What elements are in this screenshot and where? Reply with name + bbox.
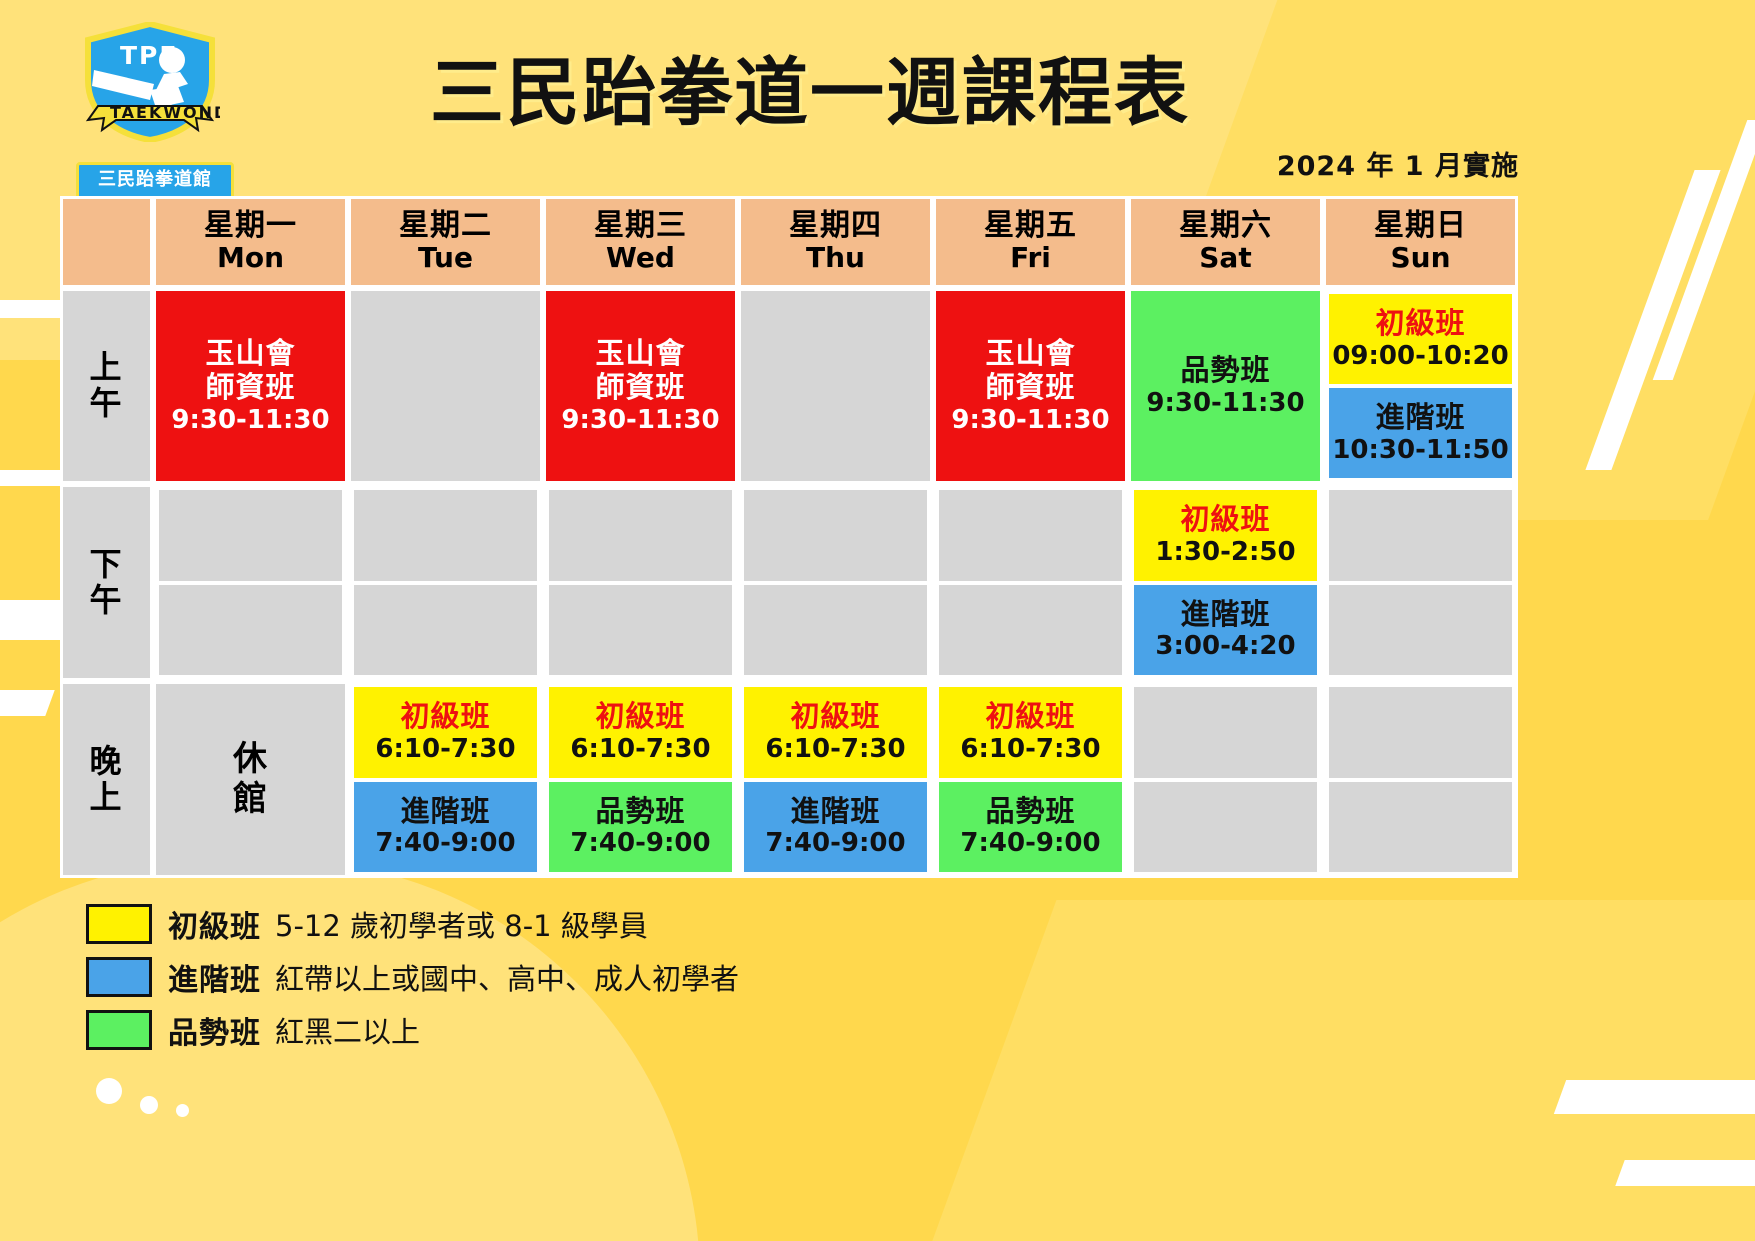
half-cell xyxy=(936,583,1125,679)
class-name: 進階班 xyxy=(790,796,880,826)
schedule-cell: 初級班6:10-7:30品勢班7:40-9:00 xyxy=(543,681,738,878)
legend-class-name: 進階班 xyxy=(168,955,261,999)
schedule-cell: 初級班6:10-7:30進階班7:40-9:00 xyxy=(738,681,933,878)
half-cell: 初級班1:30-2:50 xyxy=(1131,487,1320,583)
class-time: 9:30-11:30 xyxy=(1146,390,1304,417)
class-time: 1:30-2:50 xyxy=(1155,539,1295,566)
class-block[interactable]: 進階班10:30-11:50 xyxy=(1329,388,1512,478)
legend-row: 初級班5-12 歲初學者或 8-1 級學員 xyxy=(86,902,1186,946)
class-block[interactable]: 玉山會師資班9:30-11:30 xyxy=(546,291,735,481)
half-cell xyxy=(546,583,735,679)
split-cell: 初級班6:10-7:30進階班7:40-9:00 xyxy=(741,684,930,875)
class-block xyxy=(1329,687,1512,778)
schedule-cell: 品勢班9:30-11:30 xyxy=(1128,288,1323,484)
half-cell xyxy=(156,487,345,583)
day-name-en: Sun xyxy=(1390,243,1450,274)
class-time: 7:40-9:00 xyxy=(765,830,905,857)
period-label-0: 上午 xyxy=(60,288,153,484)
day-name-en: Tue xyxy=(418,243,473,274)
schedule-cell xyxy=(153,484,348,681)
class-name: 初級班 xyxy=(400,701,490,731)
class-name: 進階班 xyxy=(1375,402,1465,432)
class-time: 7:40-9:00 xyxy=(570,830,710,857)
schedule-cell xyxy=(348,288,543,484)
day-name-zh: 星期五 xyxy=(984,210,1077,242)
class-block[interactable]: 品勢班7:40-9:00 xyxy=(939,782,1122,873)
class-name: 初級班 xyxy=(1180,504,1270,534)
legend-color-swatch-yellow xyxy=(86,904,152,944)
day-name-en: Sat xyxy=(1199,243,1251,274)
day-name-zh: 星期二 xyxy=(399,210,492,242)
half-cell xyxy=(741,487,930,583)
class-block xyxy=(549,490,732,581)
class-block[interactable]: 初級班1:30-2:50 xyxy=(1134,490,1317,581)
logo: TPE TAEKWONDO 三民跆拳道館 xyxy=(58,22,248,187)
day-name-zh: 星期六 xyxy=(1179,210,1272,242)
class-block[interactable]: 初級班6:10-7:30 xyxy=(549,687,732,778)
effective-date: 2024 年 1 月實施 xyxy=(1277,144,1519,183)
period-label-2: 晚上 xyxy=(60,681,153,878)
class-time: 7:40-9:00 xyxy=(960,830,1100,857)
class-block: 休館 xyxy=(156,684,345,875)
day-name-zh: 星期日 xyxy=(1374,210,1467,242)
day-name-en: Mon xyxy=(217,243,284,274)
split-cell xyxy=(1131,684,1320,875)
closed-label: 館 xyxy=(233,782,268,818)
class-name-line: 玉山會 xyxy=(205,338,295,368)
class-block xyxy=(159,585,342,676)
class-name-line: 玉山會 xyxy=(595,338,685,368)
split-cell: 初級班6:10-7:30進階班7:40-9:00 xyxy=(351,684,540,875)
class-name: 進階班 xyxy=(1180,599,1270,629)
half-cell: 進階班3:00-4:20 xyxy=(1131,583,1320,679)
schedule-cell: 初級班6:10-7:30進階班7:40-9:00 xyxy=(348,681,543,878)
schedule-row: 晚上休館初級班6:10-7:30進階班7:40-9:00初級班6:10-7:30… xyxy=(60,681,1515,878)
class-block xyxy=(354,585,537,676)
half-cell: 初級班6:10-7:30 xyxy=(936,684,1125,780)
class-block xyxy=(351,291,540,481)
half-cell xyxy=(741,583,930,679)
class-time: 10:30-11:50 xyxy=(1332,437,1508,464)
day-header-sun: 星期日Sun xyxy=(1323,196,1518,288)
class-block xyxy=(1329,490,1512,581)
class-block[interactable]: 玉山會師資班9:30-11:30 xyxy=(156,291,345,481)
day-name-zh: 星期四 xyxy=(789,210,882,242)
class-name-line: 師資班 xyxy=(985,372,1075,402)
half-cell xyxy=(156,583,345,679)
half-cell xyxy=(1326,583,1515,679)
schedule-cell: 玉山會師資班9:30-11:30 xyxy=(543,288,738,484)
class-block[interactable]: 初級班6:10-7:30 xyxy=(939,687,1122,778)
class-name: 初級班 xyxy=(595,701,685,731)
schedule-cell xyxy=(348,484,543,681)
day-name-en: Wed xyxy=(606,243,675,274)
class-name-line: 師資班 xyxy=(205,372,295,402)
class-time: 09:00-10:20 xyxy=(1332,343,1508,370)
page-header: TPE TAEKWONDO 三民跆拳道館 三民跆拳道一週課程表 2024 年 1… xyxy=(0,0,1755,190)
split-cell xyxy=(1326,684,1515,875)
legend-class-name: 品勢班 xyxy=(168,1008,261,1052)
split-cell xyxy=(1326,487,1515,678)
class-block xyxy=(744,490,927,581)
schedule-cell xyxy=(1323,484,1518,681)
table-header-row: 星期一Mon星期二Tue星期三Wed星期四Thu星期五Fri星期六Sat星期日S… xyxy=(60,196,1515,288)
period-label-char: 下 xyxy=(89,547,123,583)
split-cell xyxy=(741,487,930,678)
half-cell: 初級班6:10-7:30 xyxy=(741,684,930,780)
half-cell xyxy=(936,487,1125,583)
class-block xyxy=(744,585,927,676)
split-cell: 初級班6:10-7:30品勢班7:40-9:00 xyxy=(936,684,1125,875)
half-cell xyxy=(546,487,735,583)
half-cell: 進階班7:40-9:00 xyxy=(741,780,930,876)
class-block xyxy=(741,291,930,481)
class-block[interactable]: 品勢班9:30-11:30 xyxy=(1131,291,1320,481)
period-label-1: 下午 xyxy=(60,484,153,681)
class-time: 6:10-7:30 xyxy=(765,736,905,763)
class-block[interactable]: 初級班6:10-7:30 xyxy=(744,687,927,778)
period-label-char: 午 xyxy=(89,583,123,619)
class-name: 進階班 xyxy=(400,796,490,826)
class-block[interactable]: 進階班7:40-9:00 xyxy=(744,782,927,873)
day-name-en: Thu xyxy=(806,243,865,274)
class-block xyxy=(1329,782,1512,873)
split-cell xyxy=(351,487,540,678)
schedule-row: 上午玉山會師資班9:30-11:30玉山會師資班9:30-11:30玉山會師資班… xyxy=(60,288,1515,484)
class-block[interactable]: 初級班6:10-7:30 xyxy=(354,687,537,778)
schedule-cell xyxy=(1323,681,1518,878)
split-cell xyxy=(936,487,1125,678)
class-block xyxy=(549,585,732,676)
class-block xyxy=(939,585,1122,676)
table-corner-cell xyxy=(60,196,153,288)
half-cell: 初級班6:10-7:30 xyxy=(546,684,735,780)
half-cell: 品勢班7:40-9:00 xyxy=(546,780,735,876)
taekwondo-shield-icon: TPE TAEKWONDO xyxy=(80,22,220,142)
half-cell xyxy=(351,487,540,583)
split-cell xyxy=(546,487,735,678)
period-label-char: 晚 xyxy=(89,744,123,780)
day-name-zh: 星期一 xyxy=(204,210,297,242)
legend-color-swatch-green xyxy=(86,1010,152,1050)
schedule-cell xyxy=(933,484,1128,681)
class-name-line: 玉山會 xyxy=(985,338,1075,368)
class-time: 9:30-11:30 xyxy=(561,407,719,434)
period-label-char: 上 xyxy=(89,780,123,816)
half-cell xyxy=(1131,684,1320,780)
class-block[interactable]: 品勢班7:40-9:00 xyxy=(549,782,732,873)
schedule-cell: 休館 xyxy=(153,681,348,878)
weekly-schedule-table: 星期一Mon星期二Tue星期三Wed星期四Thu星期五Fri星期六Sat星期日S… xyxy=(60,196,1515,878)
class-time: 3:00-4:20 xyxy=(1155,633,1295,660)
half-cell: 進階班7:40-9:00 xyxy=(351,780,540,876)
legend-class-name: 初級班 xyxy=(168,902,261,946)
day-header-fri: 星期五Fri xyxy=(933,196,1128,288)
schedule-cell xyxy=(543,484,738,681)
schedule-cell xyxy=(738,484,933,681)
class-time: 6:10-7:30 xyxy=(375,736,515,763)
period-label-char: 午 xyxy=(89,386,123,422)
schedule-cell: 初級班6:10-7:30品勢班7:40-9:00 xyxy=(933,681,1128,878)
half-cell xyxy=(351,583,540,679)
svg-text:TAEKWONDO: TAEKWONDO xyxy=(110,103,220,122)
class-block xyxy=(354,490,537,581)
day-header-tue: 星期二Tue xyxy=(348,196,543,288)
class-name: 品勢班 xyxy=(985,796,1075,826)
schedule-cell: 玉山會師資班9:30-11:30 xyxy=(933,288,1128,484)
split-cell: 初級班1:30-2:50進階班3:00-4:20 xyxy=(1131,487,1320,678)
class-block[interactable]: 進階班7:40-9:00 xyxy=(354,782,537,873)
class-block[interactable]: 進階班3:00-4:20 xyxy=(1134,585,1317,676)
half-cell: 初級班6:10-7:30 xyxy=(351,684,540,780)
period-label-char: 上 xyxy=(89,350,123,386)
legend-description: 紅帶以上或國中、高中、成人初學者 xyxy=(275,956,739,998)
day-header-wed: 星期三Wed xyxy=(543,196,738,288)
half-cell xyxy=(1326,780,1515,876)
class-block xyxy=(159,490,342,581)
class-name: 初級班 xyxy=(790,701,880,731)
half-cell: 品勢班7:40-9:00 xyxy=(936,780,1125,876)
split-cell: 初級班6:10-7:30品勢班7:40-9:00 xyxy=(546,684,735,875)
schedule-cell: 初級班09:00-10:20進階班10:30-11:50 xyxy=(1323,288,1518,484)
half-cell: 進階班10:30-11:50 xyxy=(1326,386,1515,481)
class-block xyxy=(939,490,1122,581)
closed-label: 休 xyxy=(233,742,268,778)
day-header-thu: 星期四Thu xyxy=(738,196,933,288)
legend-description: 5-12 歲初學者或 8-1 級學員 xyxy=(275,903,648,945)
class-name: 初級班 xyxy=(985,701,1075,731)
split-cell xyxy=(156,487,345,678)
legend-row: 品勢班紅黑二以上 xyxy=(86,1008,1186,1052)
class-time: 9:30-11:30 xyxy=(951,407,1109,434)
split-cell: 初級班09:00-10:20進階班10:30-11:50 xyxy=(1326,291,1515,481)
class-name-line: 師資班 xyxy=(595,372,685,402)
schedule-cell xyxy=(738,288,933,484)
class-name: 品勢班 xyxy=(595,796,685,826)
class-time: 6:10-7:30 xyxy=(570,736,710,763)
half-cell xyxy=(1326,487,1515,583)
day-header-mon: 星期一Mon xyxy=(153,196,348,288)
class-name: 初級班 xyxy=(1375,308,1465,338)
legend-row: 進階班紅帶以上或國中、高中、成人初學者 xyxy=(86,955,1186,999)
schedule-cell: 玉山會師資班9:30-11:30 xyxy=(153,288,348,484)
class-block[interactable]: 初級班09:00-10:20 xyxy=(1329,294,1512,384)
class-block[interactable]: 玉山會師資班9:30-11:30 xyxy=(936,291,1125,481)
legend: 初級班5-12 歲初學者或 8-1 級學員進階班紅帶以上或國中、高中、成人初學者… xyxy=(86,902,1186,1061)
half-cell: 初級班09:00-10:20 xyxy=(1326,291,1515,386)
class-block xyxy=(1134,782,1317,873)
legend-description: 紅黑二以上 xyxy=(275,1009,420,1051)
class-time: 9:30-11:30 xyxy=(171,407,329,434)
class-block xyxy=(1329,585,1512,676)
day-name-zh: 星期三 xyxy=(594,210,687,242)
half-cell xyxy=(1326,684,1515,780)
schedule-row: 下午初級班1:30-2:50進階班3:00-4:20 xyxy=(60,484,1515,681)
class-name: 品勢班 xyxy=(1180,355,1270,385)
class-block xyxy=(1134,687,1317,778)
class-time: 7:40-9:00 xyxy=(375,830,515,857)
class-time: 6:10-7:30 xyxy=(960,736,1100,763)
schedule-cell xyxy=(1128,681,1323,878)
page-title: 三民跆拳道一週課程表 xyxy=(430,48,1190,138)
half-cell xyxy=(1131,780,1320,876)
legend-color-swatch-blue xyxy=(86,957,152,997)
day-header-sat: 星期六Sat xyxy=(1128,196,1323,288)
day-name-en: Fri xyxy=(1010,243,1051,274)
schedule-cell: 初級班1:30-2:50進階班3:00-4:20 xyxy=(1128,484,1323,681)
